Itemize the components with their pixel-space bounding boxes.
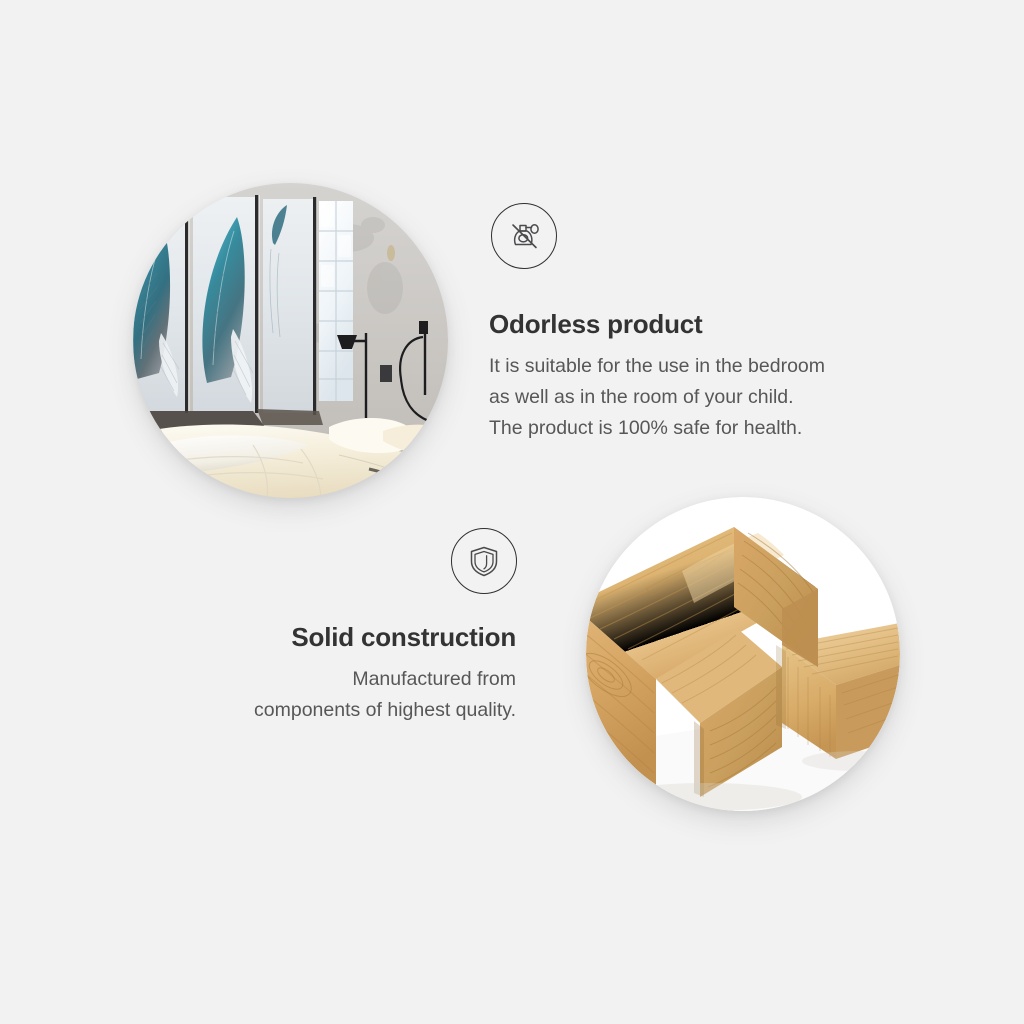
infographic-canvas: Odorless product It is suitable for the …	[0, 0, 1024, 1024]
feature-body-odorless: It is suitable for the use in the bedroo…	[489, 351, 929, 444]
shield-glyph	[465, 542, 503, 580]
bedroom-photo-illustration	[133, 183, 448, 498]
feature-title-odorless: Odorless product	[489, 310, 929, 340]
feature-body-solid: Manufactured from components of highest …	[160, 664, 516, 726]
feature-title-solid: Solid construction	[160, 623, 516, 653]
wooden-beams-photo	[586, 497, 900, 811]
shield-icon	[451, 528, 517, 594]
no-perfume-glyph	[504, 216, 544, 256]
no-perfume-icon	[491, 203, 557, 269]
bedroom-feather-artwork-photo	[133, 183, 448, 498]
wooden-beams-illustration	[586, 497, 900, 811]
feature-block-odorless: Odorless product It is suitable for the …	[489, 310, 929, 444]
feature-block-solid: Solid construction Manufactured from com…	[160, 623, 516, 726]
